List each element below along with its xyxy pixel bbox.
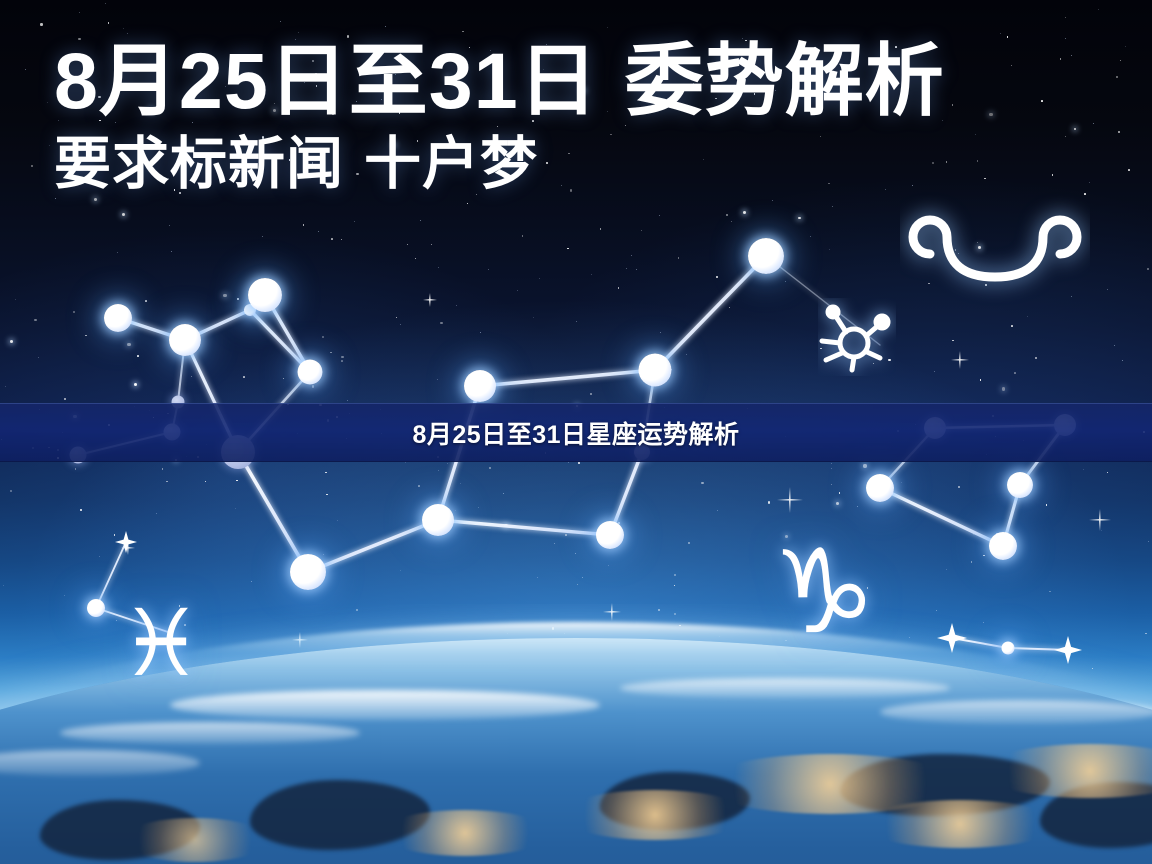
- background-star: [303, 224, 305, 226]
- background-star: [537, 577, 538, 578]
- sparkle-star: [423, 293, 437, 307]
- headline-topic: 委势解析: [625, 36, 945, 125]
- background-star: [1116, 76, 1118, 78]
- poster-headline: 8月25日至31日委势解析 要求标新闻十户梦: [54, 40, 1114, 198]
- star-node: [298, 360, 323, 385]
- background-star: [330, 352, 332, 354]
- background-star: [64, 595, 65, 596]
- background-star: [438, 470, 439, 471]
- sun-burst-glyph: [818, 298, 896, 376]
- background-star: [1011, 325, 1013, 327]
- sparkle-star: [777, 487, 803, 513]
- background-star: [243, 376, 245, 378]
- background-star: [1046, 504, 1048, 506]
- background-star: [108, 22, 110, 24]
- background-star: [341, 356, 343, 358]
- background-star: [64, 398, 66, 400]
- star-node: [290, 554, 326, 590]
- background-star: [731, 221, 732, 222]
- background-star: [829, 249, 830, 250]
- background-star: [123, 28, 124, 29]
- background-star: [137, 355, 139, 357]
- background-star: [94, 198, 97, 201]
- background-star: [626, 268, 627, 269]
- background-star: [145, 300, 147, 302]
- background-star: [533, 317, 534, 318]
- city-lights: [860, 800, 1060, 848]
- headline-line-2: 要求标新闻十户梦: [54, 132, 1114, 198]
- background-star: [223, 294, 226, 297]
- star-node: [639, 354, 672, 387]
- background-star: [31, 165, 33, 167]
- background-star: [298, 32, 299, 33]
- background-star: [565, 534, 567, 536]
- star-node: [866, 474, 894, 502]
- headline-date: 8月25日至31日: [54, 36, 599, 125]
- city-lights: [380, 810, 550, 856]
- background-star: [1107, 472, 1109, 474]
- background-star: [659, 215, 660, 216]
- headline-line-1: 8月25日至31日委势解析: [54, 40, 1114, 122]
- star-node: [596, 521, 624, 549]
- background-star: [575, 553, 576, 554]
- star-node: [248, 278, 282, 312]
- sparkle-star: [951, 351, 969, 369]
- background-star: [798, 217, 800, 219]
- background-star: [517, 290, 518, 291]
- background-star: [1107, 289, 1108, 290]
- background-star: [400, 324, 401, 325]
- star-node: [748, 238, 784, 274]
- background-star: [1122, 360, 1123, 361]
- title-banner: 8月25日至31日星座运势解析: [0, 403, 1152, 462]
- capricorn-glyph: ♑: [772, 534, 876, 650]
- background-star: [79, 12, 80, 13]
- background-star: [166, 481, 168, 483]
- background-star: [341, 360, 343, 362]
- background-star: [3, 585, 4, 586]
- background-star: [385, 26, 386, 27]
- headline-sub-left: 要求标新闻: [54, 132, 344, 196]
- background-star: [462, 31, 464, 33]
- background-star: [420, 220, 421, 221]
- background-star: [1049, 591, 1051, 593]
- star-node: [1007, 472, 1033, 498]
- headline-sub-right: 十户梦: [364, 132, 538, 196]
- background-star: [75, 468, 77, 470]
- cloud-band: [620, 678, 950, 698]
- cloud-band: [60, 722, 360, 744]
- background-star: [1118, 131, 1120, 133]
- city-lights: [560, 790, 750, 840]
- background-star: [983, 555, 985, 557]
- background-star: [1027, 316, 1028, 317]
- star-node: [169, 324, 201, 356]
- star-node: [464, 370, 496, 402]
- background-star: [40, 23, 42, 25]
- star-node: [87, 599, 105, 617]
- background-star: [191, 376, 193, 378]
- pisces-glyph: ♓: [120, 598, 202, 690]
- background-star: [440, 322, 442, 324]
- background-star: [567, 248, 569, 250]
- background-star: [660, 332, 661, 333]
- background-star: [863, 464, 866, 467]
- background-star: [460, 483, 461, 484]
- background-star: [105, 3, 106, 4]
- cloud-band: [170, 690, 600, 720]
- background-star: [554, 543, 555, 544]
- cloud-band: [880, 700, 1152, 724]
- background-star: [946, 569, 947, 570]
- background-star: [156, 513, 157, 514]
- background-star: [674, 574, 676, 576]
- background-star: [407, 244, 408, 245]
- background-star: [325, 472, 327, 474]
- background-star: [1128, 169, 1130, 171]
- background-star: [958, 486, 960, 488]
- background-star: [134, 383, 137, 386]
- star-node: [422, 504, 454, 536]
- background-star: [701, 482, 703, 484]
- taurus-glyph: [900, 186, 1090, 306]
- star-node: [989, 532, 1017, 560]
- sparkle-star: [1089, 509, 1111, 531]
- background-star: [418, 485, 420, 487]
- background-star: [488, 269, 489, 270]
- background-star: [331, 238, 333, 240]
- city-lights: [120, 818, 270, 862]
- star-node: [104, 304, 132, 332]
- background-star: [1002, 387, 1005, 390]
- poster-canvas: ♑ ♓ ♈ 8月25日至31日委势解析 要求标新闻十户梦 8月25日至31日星座…: [0, 0, 1152, 864]
- background-star: [607, 27, 608, 28]
- banner-title-text: 8月25日至31日星座运势解析: [412, 415, 739, 451]
- background-star: [1000, 33, 1001, 34]
- background-star: [1014, 372, 1016, 374]
- star-node: [1002, 642, 1015, 655]
- background-star: [47, 102, 48, 103]
- background-star: [85, 335, 87, 337]
- background-star: [600, 228, 602, 230]
- background-star: [127, 343, 130, 346]
- background-star: [99, 556, 100, 557]
- background-star: [312, 385, 314, 387]
- background-star: [467, 203, 468, 204]
